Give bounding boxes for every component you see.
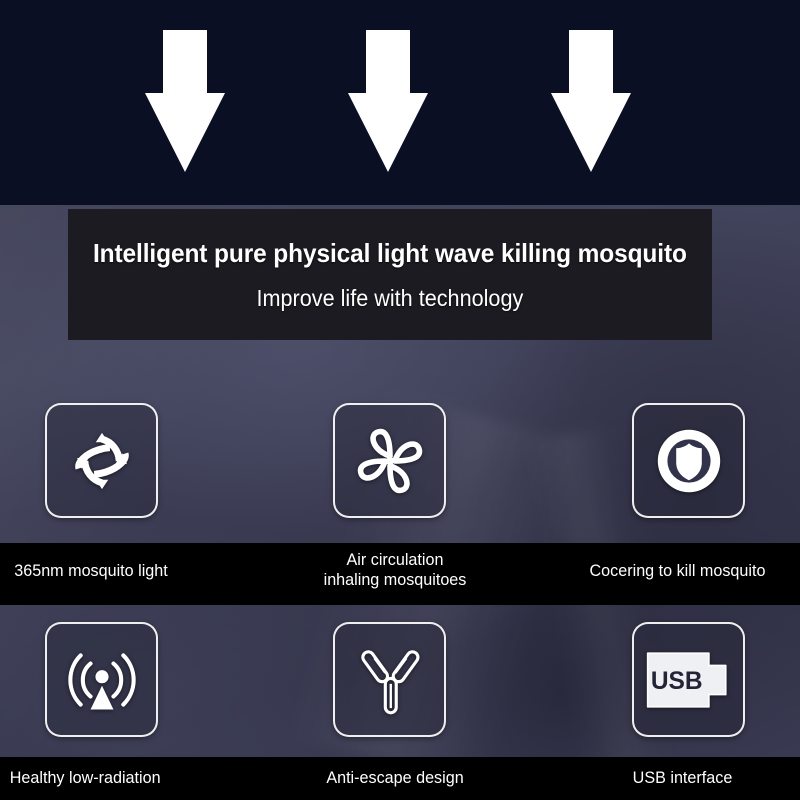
feature-tile-low-radiation[interactable] — [45, 622, 158, 737]
usb-connector-icon: USB — [643, 647, 735, 713]
feature-label-air-circulation: Air circulation inhaling mosquitoes — [286, 550, 505, 590]
feature-label-low-radiation: Healthy low-radiation — [10, 768, 229, 788]
radiation-antenna-icon — [61, 639, 143, 721]
feature-tile-usb[interactable]: USB — [632, 622, 745, 737]
feature-label-cover-kill: Cocering to kill mosquito — [561, 561, 794, 581]
usb-icon-text: USB — [650, 668, 702, 695]
feature-label-anti-escape: Anti-escape design — [286, 768, 505, 788]
shield-circle-icon — [649, 421, 729, 501]
fan-blades-icon — [350, 421, 430, 501]
down-arrow-icon — [551, 30, 631, 172]
headline-text: Intelligent pure physical light wave kil… — [93, 238, 687, 269]
subheadline-text: Improve life with technology — [257, 285, 524, 312]
feature-label-line1: Air circulation — [286, 550, 505, 570]
feature-label-365nm-light: 365nm mosquito light — [14, 561, 252, 581]
header-banner — [0, 0, 800, 205]
feature-label-line2: inhaling mosquitoes — [286, 570, 505, 590]
headline-panel: Intelligent pure physical light wave kil… — [68, 209, 712, 340]
rotating-arrows-icon — [63, 422, 141, 500]
down-arrow-icon — [348, 30, 428, 172]
feature-tile-air-circulation[interactable] — [333, 403, 446, 518]
feature-label-band-row2: Healthy low-radiation Anti-escape design… — [0, 757, 800, 800]
feature-label-band-row1: 365nm mosquito light Air circulation inh… — [0, 543, 800, 605]
promo-infographic: Intelligent pure physical light wave kil… — [0, 0, 800, 800]
feature-tile-365nm-light[interactable] — [45, 403, 158, 518]
feature-tile-cover-kill[interactable] — [632, 403, 745, 518]
antibody-y-icon — [351, 641, 429, 719]
feature-label-usb: USB interface — [566, 768, 799, 788]
down-arrow-icon — [145, 30, 225, 172]
feature-tile-anti-escape[interactable] — [333, 622, 446, 737]
